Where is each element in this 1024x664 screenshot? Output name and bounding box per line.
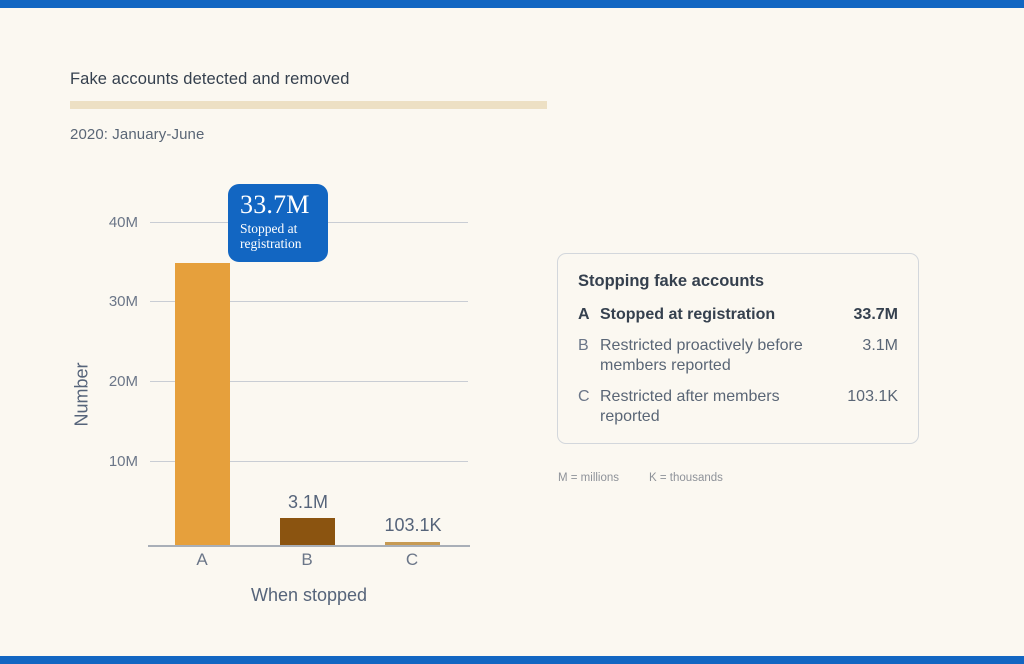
x-tick-label-a: A xyxy=(142,550,262,570)
footnote-millions: M = millions xyxy=(558,472,619,484)
unit-footnote: M = millions K = thousands xyxy=(558,472,723,484)
bar-value-b: 3.1M xyxy=(248,492,368,513)
legend-desc-b: Restricted proactively before members re… xyxy=(600,336,820,376)
bar-value-c: 103.1K xyxy=(353,515,473,536)
x-tick-label-b: B xyxy=(247,550,367,570)
bar-b[interactable] xyxy=(280,518,335,545)
legend-desc-a: Stopped at registration xyxy=(600,305,820,325)
legend-key-a: A xyxy=(578,305,600,325)
tooltip-label: Stopped at registration xyxy=(240,221,318,251)
tooltip-value: 33.7M xyxy=(240,191,318,218)
legend-value-a: 33.7M xyxy=(820,305,898,325)
legend-row-c[interactable]: C Restricted after members reported 103.… xyxy=(578,387,898,427)
bar-a[interactable] xyxy=(175,263,230,545)
legend-row-a[interactable]: A Stopped at registration 33.7M xyxy=(578,305,898,325)
legend-key-c: C xyxy=(578,387,600,407)
footnote-thousands: K = thousands xyxy=(649,472,723,484)
legend-value-b: 3.1M xyxy=(820,336,898,356)
x-tick-label-c: C xyxy=(352,550,472,570)
y-tick-label-30m: 30M xyxy=(70,293,138,310)
legend-row-b[interactable]: B Restricted proactively before members … xyxy=(578,336,898,376)
legend-panel: Stopping fake accounts A Stopped at regi… xyxy=(557,253,919,444)
y-tick-label-20m: 20M xyxy=(70,373,138,390)
legend-value-c: 103.1K xyxy=(820,387,898,407)
legend-key-b: B xyxy=(578,336,600,356)
y-tick-label-40m: 40M xyxy=(70,214,138,231)
legend-title: Stopping fake accounts xyxy=(578,272,898,291)
bar-a-tooltip[interactable]: 33.7M Stopped at registration xyxy=(228,184,328,262)
x-axis-title: When stopped xyxy=(150,585,468,606)
y-tick-label-10m: 10M xyxy=(70,453,138,470)
x-axis-baseline xyxy=(148,545,470,547)
legend-desc-c: Restricted after members reported xyxy=(600,387,820,427)
